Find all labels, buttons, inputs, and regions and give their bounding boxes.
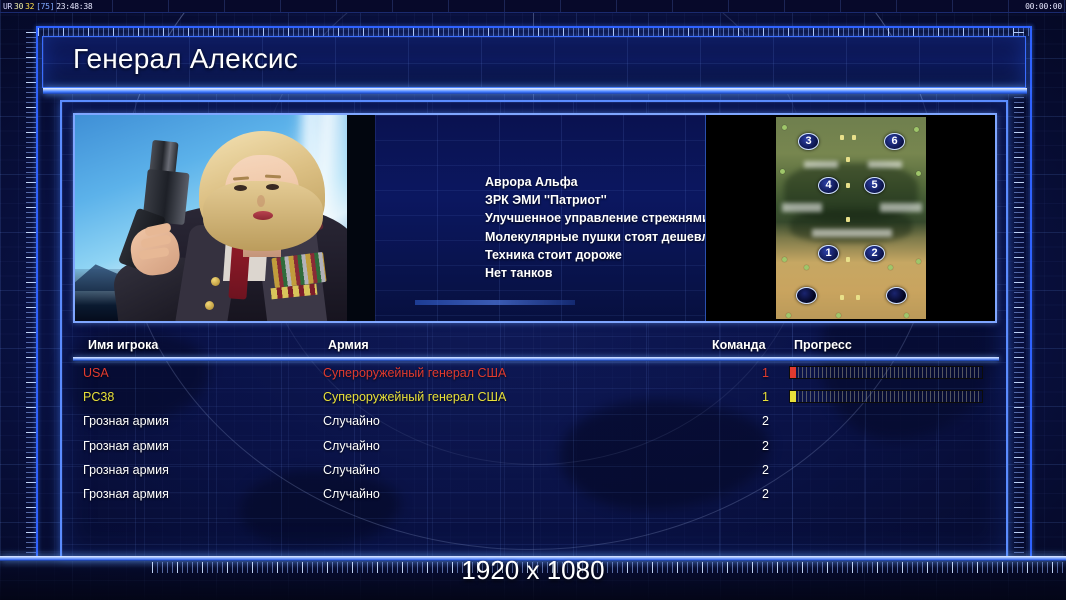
- map-preview-image[interactable]: 3 6 4 5 1 2: [776, 117, 926, 319]
- cell-army[interactable]: Супероружейный генерал США: [323, 385, 506, 409]
- portrait-right-shadow: [347, 115, 375, 321]
- progress-bar: [789, 366, 983, 379]
- cell-player-name: Грозная армия: [83, 458, 169, 482]
- main-panel: Аврора Альфа ЗРК ЭМИ ''Патриот'' Улучшен…: [60, 100, 1008, 560]
- header-underline: [43, 88, 1027, 94]
- column-header-team: Команда: [712, 338, 766, 352]
- frame-line-right: [1030, 26, 1032, 556]
- player-table-body: USAСупероружейный генерал США1PC38Суперо…: [73, 361, 999, 546]
- portrait-button: [211, 277, 220, 286]
- map-start-position[interactable]: 1: [818, 245, 839, 262]
- map-marker[interactable]: [886, 287, 907, 304]
- cell-team[interactable]: 2: [733, 434, 769, 458]
- cell-player-name: PC38: [83, 385, 114, 409]
- progress-bar-fill: [790, 367, 796, 378]
- table-row[interactable]: Грозная армияСлучайно2: [73, 458, 999, 482]
- portrait-eye: [266, 184, 279, 190]
- cell-team[interactable]: 1: [733, 361, 769, 385]
- map-start-position[interactable]: 5: [864, 177, 885, 194]
- resolution-label: 1920 x 1080: [0, 555, 1066, 586]
- cell-player-name: USA: [83, 361, 109, 385]
- table-row[interactable]: Грозная армияСлучайно2: [73, 434, 999, 458]
- general-info-row: Аврора Альфа ЗРК ЭМИ ''Патриот'' Улучшен…: [73, 113, 997, 323]
- cell-team[interactable]: 2: [733, 409, 769, 433]
- portrait-medal-ribbons: [271, 252, 326, 288]
- cell-army[interactable]: Случайно: [323, 458, 380, 482]
- debug-status-text: UR3032[75]23:48:38: [2, 1, 93, 12]
- cell-army[interactable]: Случайно: [323, 482, 380, 506]
- progress-bar-fill: [790, 391, 796, 402]
- cell-player-name: Грозная армия: [83, 434, 169, 458]
- column-header-progress: Прогресс: [794, 338, 852, 352]
- top-status-bar: UR3032[75]23:48:38 00:00:00: [0, 0, 1066, 13]
- player-table-header: Имя игрока Армия Команда Прогресс: [78, 338, 994, 358]
- cell-player-name: Грозная армия: [83, 482, 169, 506]
- game-lobby-screen: UR3032[75]23:48:38 00:00:00 Генерал Алек…: [0, 0, 1066, 600]
- portrait-button: [205, 301, 214, 310]
- status-number-1: 30: [13, 2, 24, 11]
- frame-line-left: [36, 26, 38, 556]
- map-marker[interactable]: [796, 287, 817, 304]
- table-row[interactable]: Грозная армияСлучайно2: [73, 409, 999, 433]
- frame-line-top: [38, 26, 1032, 28]
- progress-bar: [789, 390, 983, 403]
- column-header-army: Армия: [328, 338, 369, 352]
- cell-team[interactable]: 1: [733, 385, 769, 409]
- portrait-eye: [234, 185, 247, 191]
- map-start-position[interactable]: 3: [798, 133, 819, 150]
- cell-player-name: Грозная армия: [83, 409, 169, 433]
- status-prefix: UR: [2, 2, 13, 11]
- map-start-position[interactable]: 2: [864, 245, 885, 262]
- general-portrait: [75, 115, 375, 321]
- header-panel: Генерал Алексис: [42, 36, 1026, 88]
- cell-army[interactable]: Супероружейный генерал США: [323, 361, 506, 385]
- map-start-position[interactable]: 4: [818, 177, 839, 194]
- map-start-position[interactable]: 6: [884, 133, 905, 150]
- table-row[interactable]: USAСупероружейный генерал США1: [73, 361, 999, 385]
- status-bar-grid: [0, 0, 1066, 12]
- table-row[interactable]: Грозная армияСлучайно2: [73, 482, 999, 506]
- map-preview-container[interactable]: 3 6 4 5 1 2: [705, 115, 995, 321]
- table-row[interactable]: PC38Супероружейный генерал США1: [73, 385, 999, 409]
- page-title: Генерал Алексис: [73, 43, 298, 75]
- portrait-lips: [253, 211, 273, 220]
- portrait-nose: [257, 195, 265, 207]
- description-accent-bar: [415, 300, 575, 305]
- cell-team[interactable]: 2: [733, 458, 769, 482]
- cell-team[interactable]: 2: [733, 482, 769, 506]
- status-timestamp: 23:48:38: [55, 2, 93, 11]
- status-bracket: [75]: [35, 2, 55, 11]
- game-clock: 00:00:00: [1025, 1, 1062, 12]
- cell-army[interactable]: Случайно: [323, 434, 380, 458]
- status-number-2: 32: [24, 2, 35, 11]
- column-header-player: Имя игрока: [88, 338, 158, 352]
- cell-army[interactable]: Случайно: [323, 409, 380, 433]
